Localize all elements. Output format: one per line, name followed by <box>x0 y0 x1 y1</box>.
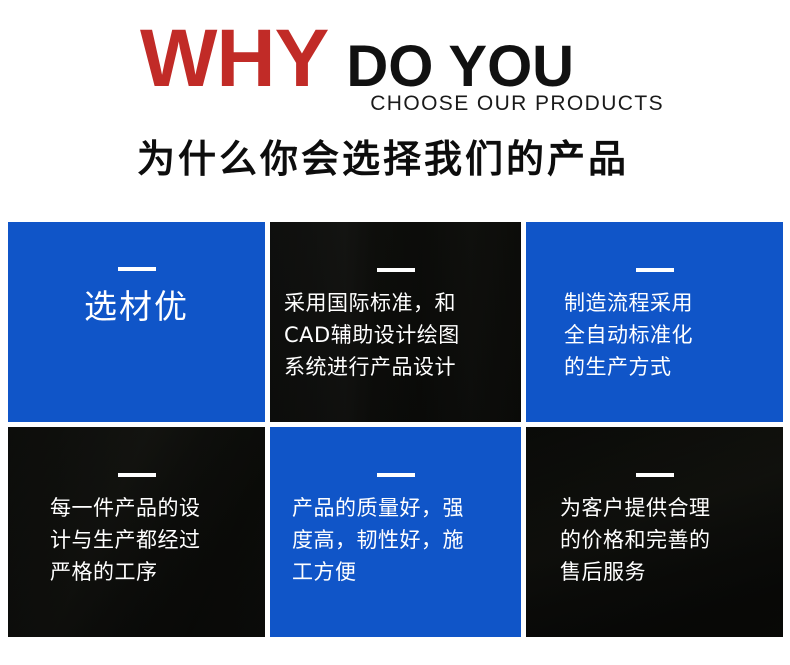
divider-dash-icon <box>636 268 674 272</box>
feature-cell-automated-manufacturing[interactable]: 制造流程采用 全自动标准化 的生产方式 <box>526 222 783 422</box>
feature-grid: 选材优 采用国际标准，和 CAD辅助设计绘图 系统进行产品设计 制造流程采用 全… <box>8 222 781 638</box>
headline-why: WHY <box>140 18 328 100</box>
divider-dash-icon <box>636 473 674 477</box>
feature-text: 制造流程采用 全自动标准化 的生产方式 <box>526 288 783 384</box>
feature-text: 为客户提供合理 的价格和完善的 售后服务 <box>526 493 783 589</box>
headline-do-you: DO YOU <box>346 38 574 96</box>
feature-text: 产品的质量好，强 度高，韧性好，施 工方便 <box>270 493 521 589</box>
divider-dash-icon <box>377 268 415 272</box>
feature-cell-international-standard-cad[interactable]: 采用国际标准，和 CAD辅助设计绘图 系统进行产品设计 <box>270 222 521 422</box>
feature-text: 每一件产品的设 计与生产都经过 严格的工序 <box>8 493 265 589</box>
feature-text: 选材优 <box>8 285 265 329</box>
feature-cell-quality-strength[interactable]: 产品的质量好，强 度高，韧性好，施 工方便 <box>270 427 521 637</box>
divider-dash-icon <box>118 473 156 477</box>
divider-dash-icon <box>377 473 415 477</box>
feature-cell-strict-process[interactable]: 每一件产品的设 计与生产都经过 严格的工序 <box>8 427 265 637</box>
headline-subtitle-cn: 为什么你会选择我们的产品 <box>137 128 667 183</box>
divider-dash-icon <box>118 267 156 271</box>
feature-text: 采用国际标准，和 CAD辅助设计绘图 系统进行产品设计 <box>270 288 521 384</box>
headline-subtitle-en: CHOOSE OUR PRODUCTS <box>140 92 664 116</box>
promo-banner: WHY DO YOU CHOOSE OUR PRODUCTS 为什么你会选择我们… <box>0 0 790 665</box>
headline-group: WHY DO YOU <box>140 18 665 98</box>
banner-header: WHY DO YOU CHOOSE OUR PRODUCTS 为什么你会选择我们… <box>0 0 790 210</box>
feature-cell-material-selection[interactable]: 选材优 <box>8 222 265 422</box>
feature-cell-price-after-sales[interactable]: 为客户提供合理 的价格和完善的 售后服务 <box>526 427 783 637</box>
